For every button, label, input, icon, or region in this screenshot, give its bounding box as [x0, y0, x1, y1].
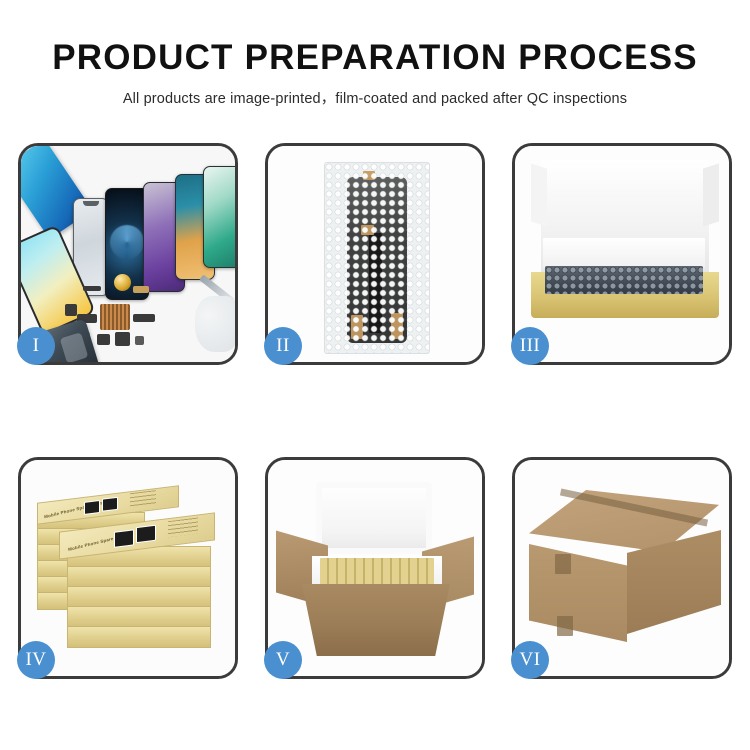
small-part	[133, 314, 155, 322]
photo-bubble-wrapped-part	[268, 146, 482, 362]
photo-foam-carton-packing	[268, 460, 482, 676]
process-step-5: V	[265, 457, 485, 679]
step-badge-6: VI	[511, 641, 549, 679]
carton-tape	[557, 616, 573, 636]
bubble-texture	[325, 163, 429, 353]
page-subtitle: All products are image-printed，film-coat…	[0, 87, 750, 108]
process-step-1: I	[18, 143, 238, 365]
step-badge-1: I	[17, 327, 55, 365]
stacked-box	[67, 626, 211, 648]
bubble-wrapped-contents	[545, 266, 703, 294]
carton-body	[302, 584, 450, 656]
stacked-box	[67, 606, 211, 628]
technician-hand	[195, 296, 235, 352]
green-wave-screen	[203, 166, 235, 268]
product-preparation-infographic: PRODUCT PREPARATION PROCESS All products…	[0, 0, 750, 750]
carton-tape	[555, 554, 571, 574]
photo-inner-box-packing	[515, 146, 729, 362]
small-part	[135, 336, 144, 345]
small-part	[115, 332, 130, 346]
foam-liner	[543, 238, 705, 268]
small-part	[83, 286, 101, 291]
photo-sealed-carton	[515, 460, 729, 676]
stacked-box	[67, 566, 211, 588]
process-step-2: II	[265, 143, 485, 365]
box-screen-graphic	[102, 497, 118, 512]
box-screen-graphic	[114, 529, 134, 547]
box-screen-graphic	[84, 500, 100, 515]
box-text-lines	[168, 518, 198, 538]
page-title: PRODUCT PREPARATION PROCESS	[0, 36, 750, 80]
step-badge-2: II	[264, 327, 302, 365]
box-text-lines	[130, 490, 156, 507]
carton-front-face	[529, 544, 627, 642]
foam-lid	[316, 482, 432, 554]
small-part	[133, 286, 149, 293]
small-part	[65, 304, 77, 316]
box-screen-graphic	[136, 525, 156, 543]
process-grid: I II	[18, 143, 732, 679]
speaker-coil-part	[114, 274, 131, 291]
process-step-6: VI	[512, 457, 732, 679]
chip-grid-part	[100, 304, 130, 330]
small-part	[97, 334, 110, 345]
photo-phone-screens-and-parts	[21, 146, 235, 362]
step-badge-3: III	[511, 327, 549, 365]
photo-printed-boxes-stack: Mobile Phone Spare Parts Mobile Phone Sp…	[21, 460, 235, 676]
bubble-wrap-bag	[324, 162, 430, 354]
process-step-3: III	[512, 143, 732, 365]
step-badge-5: V	[264, 641, 302, 679]
step-badge-4: IV	[17, 641, 55, 679]
header: PRODUCT PREPARATION PROCESS All products…	[0, 36, 750, 108]
stacked-box	[67, 586, 211, 608]
process-step-4: Mobile Phone Spare Parts Mobile Phone Sp…	[18, 457, 238, 679]
